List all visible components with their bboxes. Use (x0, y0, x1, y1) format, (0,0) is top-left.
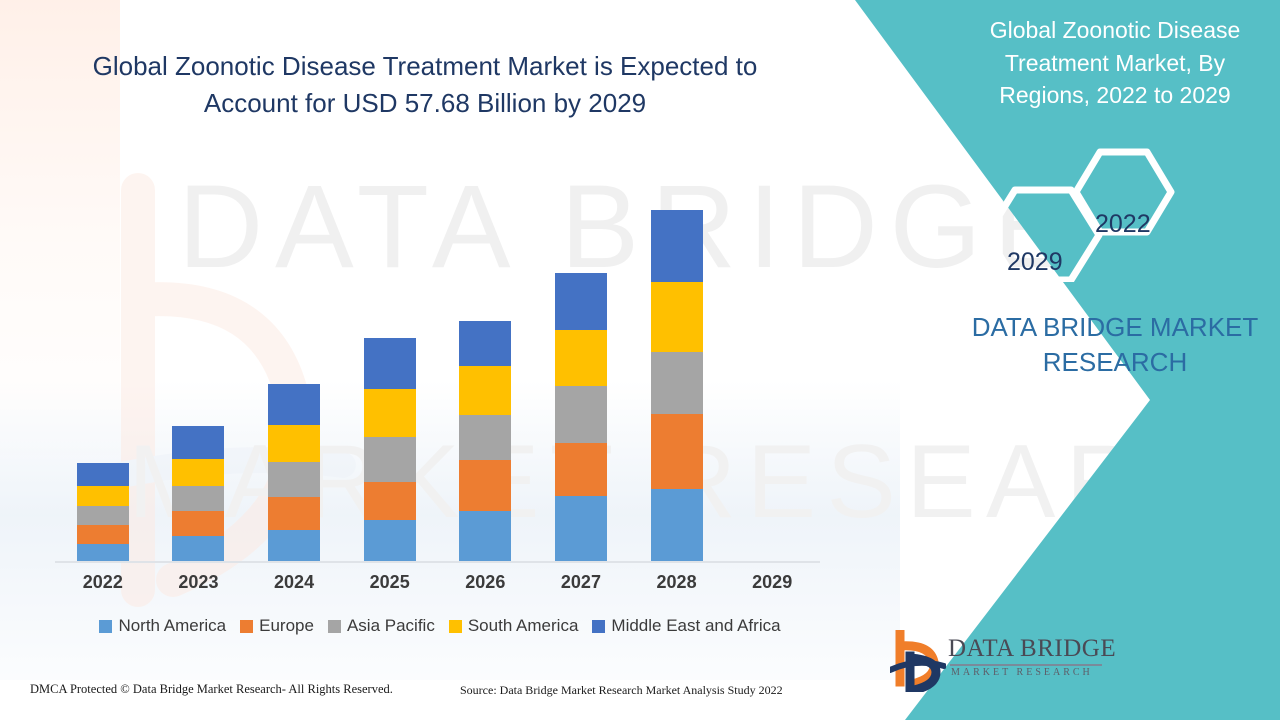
bar-column-2024[interactable] (246, 150, 342, 561)
bar-stack (459, 321, 511, 561)
bar-column-2026[interactable] (438, 150, 534, 561)
bar-segment-europe[interactable] (364, 482, 416, 520)
bar-segment-europe[interactable] (77, 525, 129, 544)
bar-column-2028[interactable] (629, 150, 725, 561)
bar-segment-asia-pacific[interactable] (268, 462, 320, 497)
bar-segment-middle-east-and-africa[interactable] (364, 338, 416, 389)
legend-label: Europe (259, 616, 314, 636)
side-panel-brand-line-1: DATA BRIDGE MARKET (965, 310, 1265, 345)
x-tick-2029: 2029 (724, 572, 820, 593)
bar-column-2023[interactable] (151, 150, 247, 561)
legend-swatch-icon (99, 620, 112, 633)
page-title-line-2: Account for USD 57.68 Billion by 2029 (60, 85, 790, 122)
bar-chart-plot-area (55, 150, 820, 561)
bar-segment-middle-east-and-africa[interactable] (77, 463, 129, 486)
bar-segment-asia-pacific[interactable] (651, 352, 703, 414)
logo-subtitle: MARKET RESEARCH (951, 668, 1093, 678)
bar-segment-north-america[interactable] (77, 544, 129, 561)
legend-swatch-icon (240, 620, 253, 633)
chart-legend: North AmericaEuropeAsia PacificSouth Ame… (55, 616, 825, 636)
x-tick-2023: 2023 (151, 572, 247, 593)
x-axis-line (55, 561, 820, 563)
x-tick-2027: 2027 (533, 572, 629, 593)
bar-segment-europe[interactable] (555, 443, 607, 496)
bar-column-2022[interactable] (55, 150, 151, 561)
bar-segment-south-america[interactable] (77, 486, 129, 505)
side-panel-title-line-2: Treatment Market, By (960, 47, 1270, 80)
bar-segment-asia-pacific[interactable] (459, 415, 511, 460)
bar-stack (364, 338, 416, 561)
hexagon-label-2029: 2029 (1007, 248, 1063, 277)
x-tick-2025: 2025 (342, 572, 438, 593)
page-title: Global Zoonotic Disease Treatment Market… (60, 48, 790, 122)
hexagon-group: 2022 2029 (975, 142, 1190, 282)
dmca-notice: DMCA Protected © Data Bridge Market Rese… (30, 682, 393, 697)
bar-segment-asia-pacific[interactable] (77, 506, 129, 525)
bar-segment-middle-east-and-africa[interactable] (172, 426, 224, 459)
legend-item-europe[interactable]: Europe (240, 616, 314, 636)
bar-column-2027[interactable] (533, 150, 629, 561)
bar-segment-south-america[interactable] (364, 389, 416, 437)
bar-segment-europe[interactable] (172, 511, 224, 536)
bar-segment-north-america[interactable] (364, 520, 416, 561)
bar-segment-north-america[interactable] (555, 496, 607, 561)
legend-swatch-icon (449, 620, 462, 633)
legend-label: Asia Pacific (347, 616, 435, 636)
x-tick-2026: 2026 (438, 572, 534, 593)
bar-segment-middle-east-and-africa[interactable] (268, 384, 320, 425)
bar-stack (268, 384, 320, 561)
bar-stack (651, 210, 703, 561)
logo-wordmark: DATA BRIDGE (948, 636, 1116, 661)
bar-column-2029[interactable] (724, 150, 820, 561)
infographic-canvas: DATA BRIDGE MARKET RESEARCH Global Zoono… (0, 0, 1280, 720)
bar-segment-middle-east-and-africa[interactable] (459, 321, 511, 366)
side-panel-brand-line-2: RESEARCH (965, 345, 1265, 380)
bar-segment-south-america[interactable] (555, 330, 607, 387)
bar-segment-north-america[interactable] (268, 530, 320, 561)
legend-swatch-icon (328, 620, 341, 633)
page-title-line-1: Global Zoonotic Disease Treatment Market… (60, 48, 790, 85)
x-tick-2024: 2024 (246, 572, 342, 593)
bar-segment-europe[interactable] (651, 414, 703, 489)
legend-item-south-america[interactable]: South America (449, 616, 579, 636)
bar-segment-europe[interactable] (268, 497, 320, 530)
legend-item-north-america[interactable]: North America (99, 616, 226, 636)
bar-segment-south-america[interactable] (651, 282, 703, 352)
logo-divider (950, 664, 1102, 666)
source-note: Source: Data Bridge Market Research Mark… (460, 683, 783, 698)
legend-swatch-icon (592, 620, 605, 633)
bar-segment-north-america[interactable] (172, 536, 224, 561)
side-panel-title-line-1: Global Zoonotic Disease (960, 14, 1270, 47)
bar-segment-south-america[interactable] (172, 459, 224, 486)
bar-stack (77, 463, 129, 561)
x-tick-2022: 2022 (55, 572, 151, 593)
side-panel-title-line-3: Regions, 2022 to 2029 (960, 79, 1270, 112)
x-axis-tick-labels: 20222023202420252026202720282029 (55, 572, 820, 593)
x-tick-2028: 2028 (629, 572, 725, 593)
bar-stack (555, 273, 607, 561)
bar-segment-asia-pacific[interactable] (555, 386, 607, 443)
data-bridge-logo-mark-icon (890, 630, 946, 692)
bar-segment-middle-east-and-africa[interactable] (555, 273, 607, 330)
bar-segment-north-america[interactable] (459, 511, 511, 561)
bar-segment-asia-pacific[interactable] (172, 486, 224, 511)
bar-stack (172, 426, 224, 561)
legend-label: North America (118, 616, 226, 636)
bar-segment-north-america[interactable] (651, 489, 703, 561)
bar-segment-south-america[interactable] (459, 366, 511, 416)
bar-segment-asia-pacific[interactable] (364, 437, 416, 482)
legend-label: South America (468, 616, 579, 636)
bar-column-2025[interactable] (342, 150, 438, 561)
side-panel-title: Global Zoonotic Disease Treatment Market… (960, 14, 1270, 112)
company-logo: DATA BRIDGE MARKET RESEARCH (890, 628, 1120, 694)
bar-segment-europe[interactable] (459, 460, 511, 511)
legend-item-asia-pacific[interactable]: Asia Pacific (328, 616, 435, 636)
bar-segment-south-america[interactable] (268, 425, 320, 462)
hexagon-label-2022: 2022 (1095, 210, 1151, 239)
legend-item-middle-east-and-africa[interactable]: Middle East and Africa (592, 616, 780, 636)
bar-segment-middle-east-and-africa[interactable] (651, 210, 703, 282)
side-panel-brand: DATA BRIDGE MARKET RESEARCH (965, 310, 1265, 380)
legend-label: Middle East and Africa (611, 616, 780, 636)
